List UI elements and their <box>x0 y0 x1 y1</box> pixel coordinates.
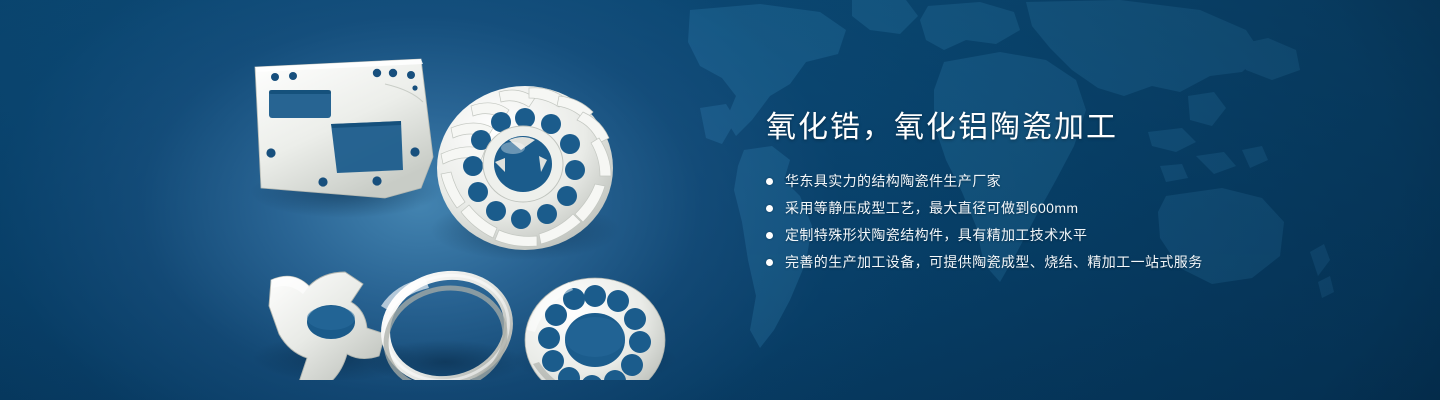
promo-banner: 氧化锆，氧化铝陶瓷加工 华东具实力的结构陶瓷件生产厂家 采用等静压成型工艺，最大… <box>0 0 1440 400</box>
feature-text: 采用等静压成型工艺，最大直径可做到600mm <box>785 199 1078 217</box>
bullet-icon <box>766 205 773 212</box>
ceramic-impeller-wheel <box>437 86 613 250</box>
ceramic-perforated-ring-plate <box>525 278 665 380</box>
feature-text: 华东具实力的结构陶瓷件生产厂家 <box>785 172 1001 190</box>
feature-text: 定制特殊形状陶瓷结构件，具有精加工技术水平 <box>785 226 1087 244</box>
ceramic-parts-artwork <box>225 40 725 380</box>
bullet-icon <box>766 259 773 266</box>
feature-list: 华东具实力的结构陶瓷件生产厂家 采用等静压成型工艺，最大直径可做到600mm 定… <box>766 172 1386 271</box>
feature-item: 华东具实力的结构陶瓷件生产厂家 <box>766 172 1386 190</box>
banner-copy: 氧化锆，氧化铝陶瓷加工 华东具实力的结构陶瓷件生产厂家 采用等静压成型工艺，最大… <box>766 108 1386 280</box>
feature-item: 采用等静压成型工艺，最大直径可做到600mm <box>766 199 1386 217</box>
feature-item: 完善的生产加工设备，可提供陶瓷成型、烧结、精加工一站式服务 <box>766 253 1386 271</box>
bullet-icon <box>766 232 773 239</box>
ceramic-machined-plate <box>255 59 433 198</box>
feature-text: 完善的生产加工设备，可提供陶瓷成型、烧结、精加工一站式服务 <box>785 253 1203 271</box>
feature-item: 定制特殊形状陶瓷结构件，具有精加工技术水平 <box>766 226 1386 244</box>
banner-headline: 氧化锆，氧化铝陶瓷加工 <box>766 108 1386 148</box>
bullet-icon <box>766 178 773 185</box>
